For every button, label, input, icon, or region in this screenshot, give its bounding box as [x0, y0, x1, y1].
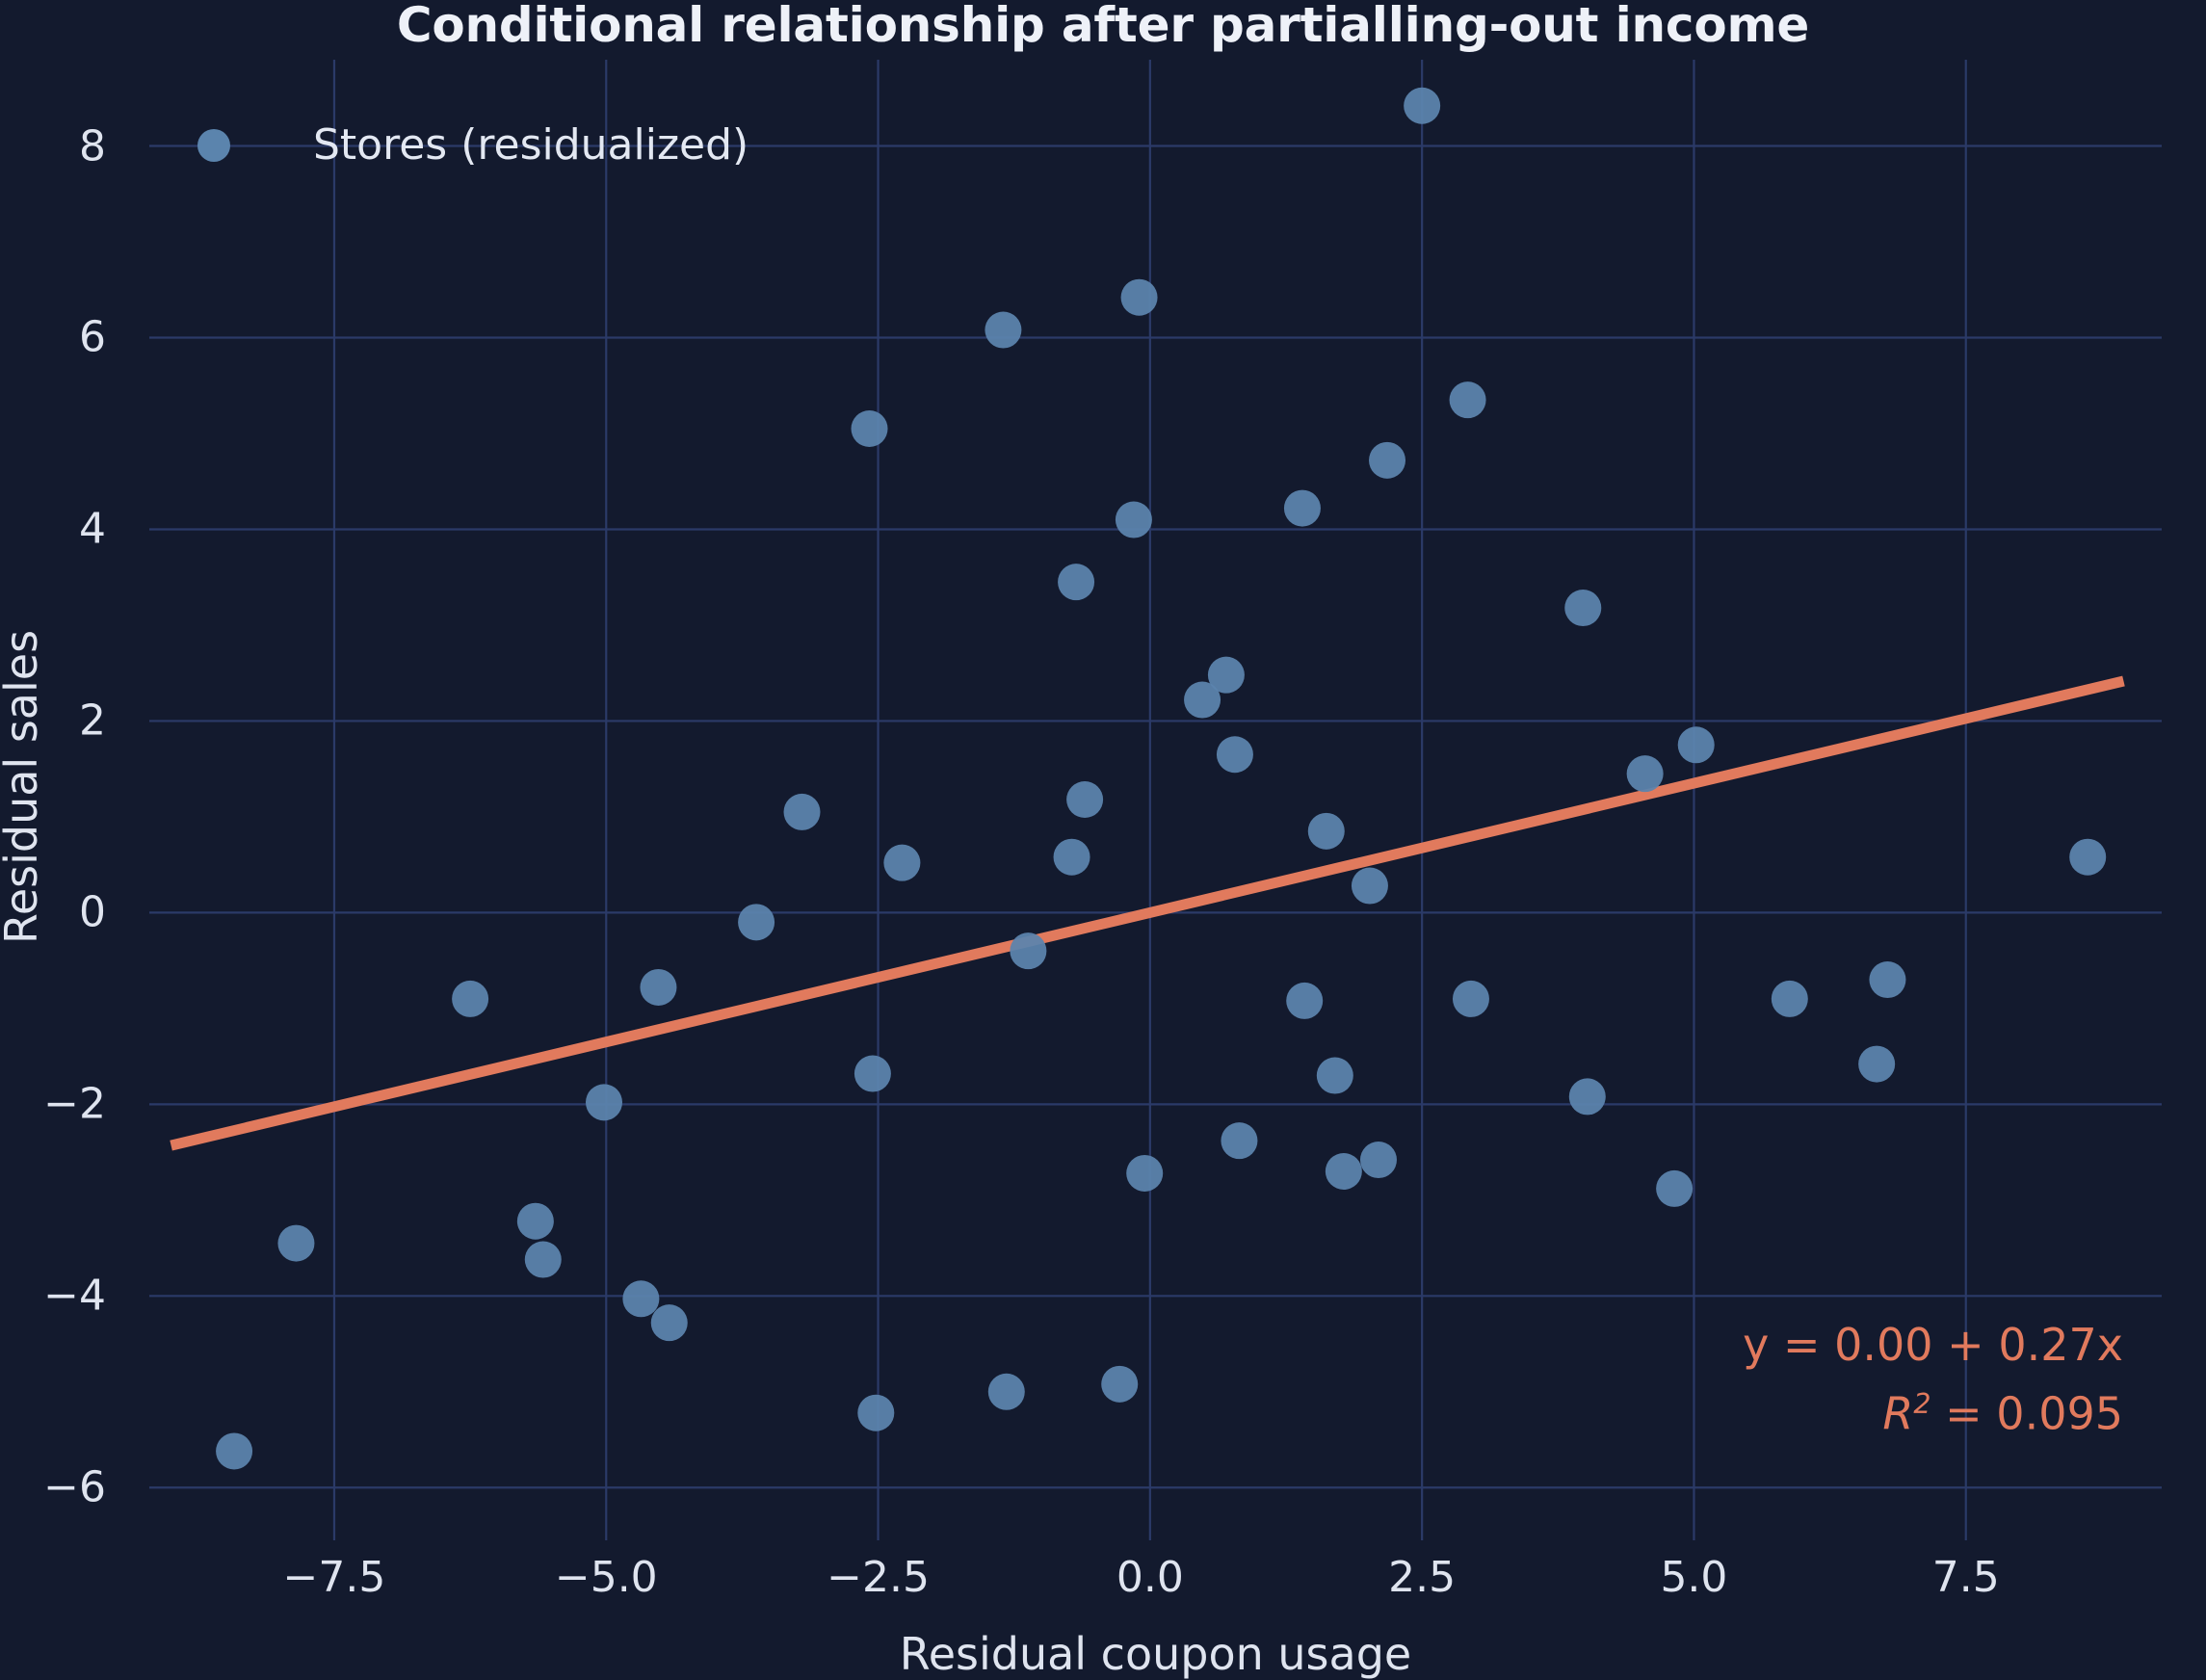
- scatter-point[interactable]: [1284, 490, 1321, 527]
- r-value: = 0.095: [1931, 1387, 2123, 1439]
- y-axis-label: Residual sales: [0, 402, 47, 1172]
- legend[interactable]: Stores (residualized): [197, 120, 748, 170]
- y-tick-label: 8: [0, 121, 106, 171]
- scatter-point[interactable]: [2069, 839, 2106, 876]
- scatter-point[interactable]: [985, 312, 1021, 349]
- x-tick-label: 7.5: [1860, 1553, 2072, 1602]
- scatter-point[interactable]: [784, 794, 821, 830]
- page-title: Conditional relationship after partialli…: [0, 0, 2206, 56]
- fit-equation-text: y = 0.00 + 0.27x: [1743, 1315, 2123, 1375]
- scatter-point[interactable]: [517, 1203, 554, 1240]
- scatter-point[interactable]: [1054, 839, 1090, 876]
- scatter-point[interactable]: [1066, 781, 1103, 818]
- y-tick-label: −6: [0, 1463, 106, 1512]
- scatter-point[interactable]: [1326, 1153, 1362, 1190]
- x-tick-label: −5.0: [500, 1553, 712, 1602]
- scatter-point[interactable]: [1101, 1366, 1138, 1403]
- scatter-point[interactable]: [1121, 279, 1158, 316]
- scatter-point[interactable]: [1058, 564, 1094, 600]
- scatter-point[interactable]: [452, 981, 488, 1017]
- chart-figure: Conditional relationship after partialli…: [0, 0, 2206, 1627]
- scatter-point[interactable]: [1858, 1046, 1895, 1083]
- scatter-point[interactable]: [1010, 932, 1046, 969]
- x-tick-label: 5.0: [1588, 1553, 1799, 1602]
- scatter-point[interactable]: [1656, 1170, 1693, 1207]
- scatter-point[interactable]: [1450, 381, 1486, 418]
- legend-marker-icon: [197, 129, 230, 162]
- scatter-point[interactable]: [586, 1084, 622, 1120]
- scatter-point[interactable]: [622, 1280, 659, 1317]
- scatter-point[interactable]: [1317, 1058, 1353, 1094]
- x-tick-label: −2.5: [773, 1553, 985, 1602]
- scatter-point[interactable]: [1126, 1155, 1163, 1192]
- scatter-point[interactable]: [1221, 1122, 1257, 1159]
- scatter-point[interactable]: [1286, 983, 1323, 1019]
- scatter-point[interactable]: [651, 1304, 688, 1341]
- scatter-point[interactable]: [1627, 755, 1664, 792]
- scatter-point[interactable]: [1869, 961, 1905, 998]
- x-axis-label: Residual coupon usage: [149, 1628, 2162, 1680]
- scatter-point[interactable]: [1772, 981, 1808, 1017]
- scatter-point[interactable]: [525, 1242, 562, 1278]
- x-tick-label: 2.5: [1316, 1553, 1528, 1602]
- scatter-point[interactable]: [1308, 813, 1345, 850]
- r-exponent: 2: [1913, 1388, 1930, 1420]
- r-symbol: R: [1882, 1387, 1913, 1439]
- scatter-point[interactable]: [854, 1056, 891, 1092]
- y-tick-label: 6: [0, 313, 106, 362]
- scatter-point[interactable]: [1217, 736, 1253, 773]
- scatter-point[interactable]: [857, 1395, 894, 1431]
- scatter-point[interactable]: [988, 1374, 1025, 1410]
- scatter-point[interactable]: [1208, 657, 1245, 694]
- legend-item-label: Stores (residualized): [313, 120, 748, 170]
- fit-r-squared-text: R2 = 0.095: [1743, 1375, 2123, 1443]
- scatter-point[interactable]: [1360, 1142, 1397, 1178]
- scatter-point[interactable]: [1369, 442, 1405, 479]
- scatter-point[interactable]: [1352, 868, 1388, 905]
- scatter-point[interactable]: [1453, 981, 1489, 1017]
- y-tick-label: −4: [0, 1272, 106, 1321]
- scatter-point[interactable]: [1678, 726, 1715, 763]
- scatter-point[interactable]: [738, 904, 775, 940]
- scatter-point[interactable]: [1116, 502, 1152, 538]
- scatter-point[interactable]: [852, 410, 888, 447]
- scatter-point[interactable]: [216, 1432, 252, 1469]
- scatter-point[interactable]: [1564, 590, 1601, 626]
- scatter-point[interactable]: [640, 969, 676, 1006]
- fit-annotation: y = 0.00 + 0.27x R2 = 0.095: [1743, 1315, 2123, 1443]
- scatter-point[interactable]: [1569, 1078, 1606, 1115]
- scatter-point[interactable]: [883, 845, 920, 881]
- scatter-point[interactable]: [1404, 88, 1440, 124]
- scatter-point[interactable]: [277, 1225, 314, 1262]
- x-tick-label: −7.5: [228, 1553, 440, 1602]
- x-tick-label: 0.0: [1044, 1553, 1256, 1602]
